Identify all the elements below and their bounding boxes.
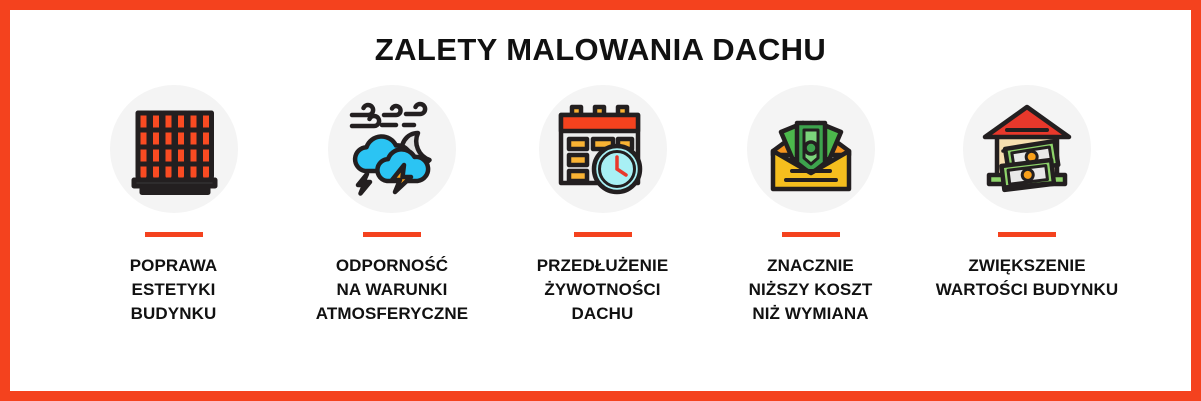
benefit-label-3: PRZEDŁUŻENIE ŻYWOTNOŚCI DACHU <box>537 254 669 326</box>
icon-circle-5 <box>963 85 1091 213</box>
accent-dash-1 <box>145 232 203 237</box>
page-title: ZALETY MALOWANIA DACHU <box>10 34 1191 65</box>
infographic-poster: ZALETY MALOWANIA DACHU <box>0 0 1201 401</box>
accent-dash-3 <box>574 232 632 237</box>
accent-dash-4 <box>782 232 840 237</box>
icon-circle-1 <box>110 85 238 213</box>
benefit-item-4: ZNACZNIE NIŻSZY KOSZT NIŻ WYMIANA <box>707 85 915 326</box>
accent-dash-2 <box>363 232 421 237</box>
benefit-item-3: PRZEDŁUŻENIE ŻYWOTNOŚCI DACHU <box>499 85 707 326</box>
storm-weather-icon <box>344 101 440 197</box>
house-money-icon <box>979 101 1075 197</box>
benefit-item-2: ODPORNOŚĆ NA WARUNKI ATMOSFERYCZNE <box>286 85 499 326</box>
benefit-label-2: ODPORNOŚĆ NA WARUNKI ATMOSFERYCZNE <box>316 254 468 326</box>
benefits-row: POPRAWA ESTETYKI BUDYNKU <box>10 85 1191 326</box>
calendar-clock-icon <box>555 101 651 197</box>
accent-dash-5 <box>998 232 1056 237</box>
benefit-label-1: POPRAWA ESTETYKI BUDYNKU <box>130 254 218 326</box>
benefit-item-5: ZWIĘKSZENIE WARTOŚCI BUDYNKU <box>915 85 1140 302</box>
benefit-item-1: POPRAWA ESTETYKI BUDYNKU <box>62 85 286 326</box>
benefit-label-5: ZWIĘKSZENIE WARTOŚCI BUDYNKU <box>936 254 1119 302</box>
benefit-label-4: ZNACZNIE NIŻSZY KOSZT NIŻ WYMIANA <box>749 254 873 326</box>
envelope-money-icon <box>763 101 859 197</box>
roof-tiles-icon <box>126 101 222 197</box>
icon-circle-2 <box>328 85 456 213</box>
icon-circle-4 <box>747 85 875 213</box>
icon-circle-3 <box>539 85 667 213</box>
